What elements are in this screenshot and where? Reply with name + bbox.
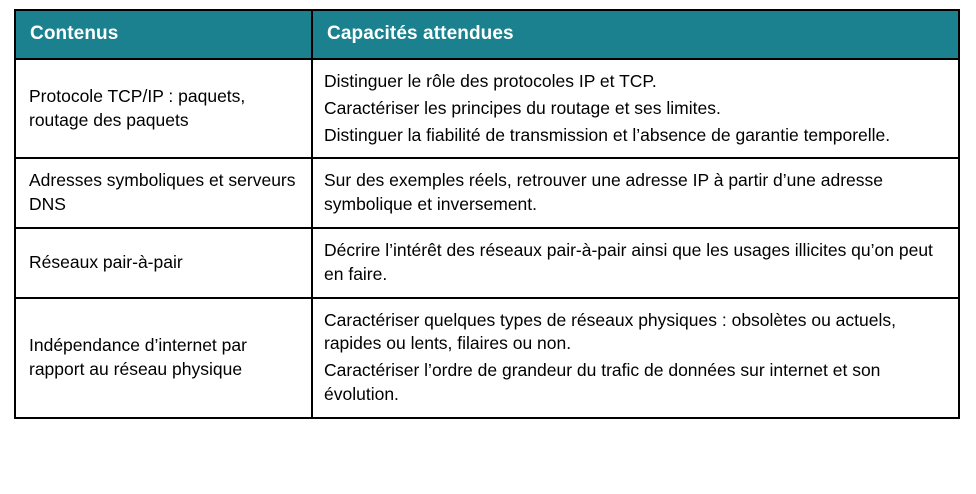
table-header: Contenus Capacités attendues bbox=[15, 10, 959, 59]
capacite-item: Caractériser l’ordre de grandeur du traf… bbox=[324, 359, 945, 407]
cell-contenu: Adresses symboliques et serveurs DNS bbox=[15, 158, 312, 228]
cell-capacites: Caractériser quelques types de réseaux p… bbox=[312, 298, 959, 418]
capacite-item: Distinguer la fiabilité de transmission … bbox=[324, 124, 945, 148]
contenu-text: Adresses symboliques et serveurs DNS bbox=[29, 169, 305, 217]
curriculum-table-container: Contenus Capacités attendues Protocole T… bbox=[14, 9, 958, 479]
contenu-text: Réseaux pair-à-pair bbox=[29, 251, 305, 275]
cell-contenu: Réseaux pair-à-pair bbox=[15, 228, 312, 298]
cell-contenu: Indépendance d’internet par rapport au r… bbox=[15, 298, 312, 418]
capacite-item: Sur des exemples réels, retrouver une ad… bbox=[324, 169, 945, 217]
curriculum-table: Contenus Capacités attendues Protocole T… bbox=[14, 9, 960, 419]
cell-capacites: Distinguer le rôle des protocoles IP et … bbox=[312, 59, 959, 158]
table-row: Indépendance d’internet par rapport au r… bbox=[15, 298, 959, 418]
contenu-text: Protocole TCP/IP : paquets, routage des … bbox=[29, 85, 305, 133]
contenu-text: Indépendance d’internet par rapport au r… bbox=[29, 334, 305, 382]
cell-contenu: Protocole TCP/IP : paquets, routage des … bbox=[15, 59, 312, 158]
table-row: Réseaux pair-à-pair Décrire l’intérêt de… bbox=[15, 228, 959, 298]
column-header-capacites: Capacités attendues bbox=[312, 10, 959, 59]
table-row: Adresses symboliques et serveurs DNS Sur… bbox=[15, 158, 959, 228]
column-header-contenus: Contenus bbox=[15, 10, 312, 59]
capacite-item: Distinguer le rôle des protocoles IP et … bbox=[324, 70, 945, 94]
table-body: Protocole TCP/IP : paquets, routage des … bbox=[15, 59, 959, 418]
cell-capacites: Décrire l’intérêt des réseaux pair-à-pai… bbox=[312, 228, 959, 298]
capacite-item: Caractériser quelques types de réseaux p… bbox=[324, 309, 945, 357]
capacite-item: Caractériser les principes du routage et… bbox=[324, 97, 945, 121]
capacite-item: Décrire l’intérêt des réseaux pair-à-pai… bbox=[324, 239, 945, 287]
cell-capacites: Sur des exemples réels, retrouver une ad… bbox=[312, 158, 959, 228]
table-row: Protocole TCP/IP : paquets, routage des … bbox=[15, 59, 959, 158]
table-header-row: Contenus Capacités attendues bbox=[15, 10, 959, 59]
